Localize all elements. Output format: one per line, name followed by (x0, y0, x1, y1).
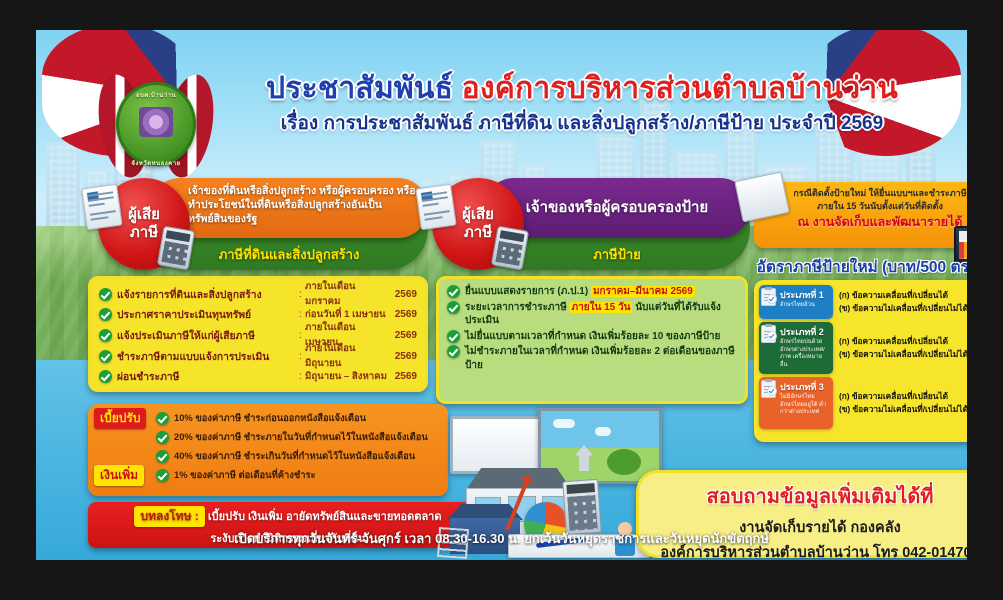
table-row: ประเภทที่ 3 ไม่มีอักษรไทย อักษรไทยอยู่ใต… (759, 377, 967, 429)
sign-type-1-label: ประเภทที่ 1 อักษรไทยล้วน (759, 285, 833, 319)
penalty-text: 20% ของค่าภาษี ชำระภายในวันที่กำหนดไว้ใน… (174, 430, 428, 445)
check-icon (99, 308, 112, 321)
sign-type-3-descriptions: (ก) ข้อความเคลื่อนที่/เปลี่ยนได้ (ข) ข้อ… (833, 377, 967, 429)
check-icon (99, 350, 112, 363)
list-item: ไม่ชำระภายในเวลาที่กำหนด เงินเพิ่มร้อยละ… (447, 345, 737, 372)
check-icon (447, 345, 460, 358)
schedule-task: แจ้งประเมินภาษีให้แก่ผู้เสียภาษี (117, 327, 299, 344)
list-item: 20% ของค่าภาษี ชำระภายในวันที่กำหนดไว้ใน… (94, 428, 442, 447)
table-row: ประเภทที่ 1 อักษรไทยล้วน (ก) ข้อความเคลื… (759, 285, 967, 319)
sign-payer-pill: เจ้าของหรือผู้ครอบครองป้าย (484, 178, 750, 238)
poster-title-block: ประชาสัมพันธ์ องค์การบริหารส่วนตำบลบ้านว… (212, 74, 952, 138)
rate-desc: (ก) ข้อความเคลื่อนที่/เปลี่ยนได้ (839, 289, 967, 302)
penalty-surcharge-tag: เงินเพิ่ม (94, 465, 144, 486)
schedule-year: 2569 (387, 330, 417, 341)
table-row: ผ่อนชำระภาษี : มิถุนายน – สิงหาคม 2569 (99, 366, 417, 387)
table-row: แจ้งรายการที่ดินและสิ่งปลูกสร้าง : ภายใน… (99, 284, 417, 305)
schedule-year: 2569 (387, 351, 417, 362)
penalty-text: 10% ของค่าภาษี ชำระก่อนออกหนังสือแจ้งเตื… (174, 411, 366, 426)
list-item: ระยะเวลาการชำระภาษี ภายใน 15 วัน นับแต่ว… (447, 301, 737, 328)
sign-type-sub: อักษรไทยล้วน (780, 302, 829, 310)
new-sign-notice-line3: ณ งานจัดเก็บและพัฒนารายได้ (762, 213, 967, 231)
sign-type-2-label: ประเภทที่ 2 อักษรไทยปนด้วย อักษรต่างประเ… (759, 322, 833, 374)
check-icon (99, 329, 112, 342)
rate-table-title: อัตราภาษีป้ายใหม่ (บาท/500 ตร.ซม.) (754, 254, 967, 279)
land-payer-badge: ผู้เสีย ภาษี (98, 178, 190, 270)
calculator-icon (157, 226, 195, 271)
schedule-task: ชำระภาษีตามแบบแจ้งการประเมิน (117, 348, 299, 365)
schedule-when: ภายในเดือน มกราคม (305, 279, 387, 309)
sign-type-sub: อักษรไทยปนด้วย อักษรต่างประเทศ/ภาพ เครื่… (780, 339, 829, 369)
rate-desc: (ก) ข้อความเคลื่อนที่/เปลี่ยนได้ (839, 390, 967, 403)
schedule-task: ผ่อนชำระภาษี (117, 368, 299, 385)
main-title-part1: ประชาสัมพันธ์ (266, 72, 453, 105)
schedule-year: 2569 (387, 309, 417, 320)
land-payer-badge-line2: ภาษี (130, 224, 158, 242)
sign-type-name: ประเภทที่ 1 (780, 288, 829, 302)
check-icon (156, 469, 169, 482)
sign-rule-text: ไม่ชำระภายในเวลาที่กำหนด เงินเพิ่มร้อยละ… (465, 345, 737, 372)
clipboard-check-icon (767, 331, 777, 341)
clipboard-check-icon (767, 386, 777, 396)
list-item: ยื่นแบบแสดงรายการ (ภ.ป.1) มกราคม–มีนาคม … (447, 285, 737, 299)
schedule-year: 2569 (387, 289, 417, 300)
table-row: ชำระภาษีตามแบบแจ้งการประเมิน : ภายในเดือ… (99, 346, 417, 367)
penalty-fine-tag: เบี้ยปรับ (94, 408, 146, 429)
penalty-panel: เบี้ยปรับ 10% ของค่าภาษี ชำระก่อนออกหนัง… (88, 404, 448, 496)
rate-desc: (ก) ข้อความเคลื่อนที่/เปลี่ยนได้ (839, 335, 967, 348)
list-item: เบี้ยปรับ 10% ของค่าภาษี ชำระก่อนออกหนัง… (94, 409, 442, 428)
clipboard-check-icon (767, 294, 777, 304)
schedule-when: มิถุนายน – สิงหาคม (305, 369, 387, 384)
sign-payer-badge-line1: ผู้เสีย (462, 206, 494, 224)
sign-type-2-descriptions: (ก) ข้อความเคลื่อนที่/เปลี่ยนได้ (ข) ข้อ… (833, 322, 967, 374)
check-icon (156, 450, 169, 463)
schedule-when: ภายในเดือน มิถุนายน (305, 341, 387, 371)
organization-emblem: อบต.บ้านว่าน จังหวัดหนองคาย (102, 72, 210, 184)
rate-desc: (ข) ข้อความไม่เคลื่อนที่/เปลี่ยนไม่ได้ (839, 302, 967, 315)
sign-rules-panel: ยื่นแบบแสดงรายการ (ภ.ป.1) มกราคม–มีนาคม … (436, 276, 748, 404)
footer-text: เปิดบริการทุกวันจันทร์-วันศุกร์ เวลา 08.… (234, 531, 769, 546)
punishment-text1: เบี้ยปรับ เงินเพิ่ม อายัดทรัพย์สินและขาย… (208, 511, 442, 523)
punishment-tag: บทลงโทษ : (134, 506, 204, 527)
check-icon (156, 412, 169, 425)
rate-desc: (ข) ข้อความไม่เคลื่อนที่/เปลี่ยนไม่ได้ (839, 403, 967, 416)
sign-type-name: ประเภทที่ 2 (780, 325, 829, 339)
sign-type-3-label: ประเภทที่ 3 ไม่มีอักษรไทย อักษรไทยอยู่ใต… (759, 377, 833, 429)
list-item: 40% ของค่าภาษี ชำระเกินวันที่กำหนดไว้ในห… (94, 447, 442, 466)
new-sign-notice-line1: กรณีติดตั้งป้ายใหม่ ให้ยื่นแบบฯและชำระภา… (762, 187, 967, 200)
check-icon (447, 330, 460, 343)
sign-rule-pre: ระยะเวลาการชำระภาษี (465, 302, 570, 313)
sign-payer-badge: ผู้เสีย ภาษี (432, 178, 524, 270)
sign-rate-table: ประเภทที่ 1 อักษรไทยล้วน (ก) ข้อความเคลื… (754, 280, 967, 442)
list-item: ไม่ยื่นแบบตามเวลาที่กำหนด เงินเพิ่มร้อยล… (447, 330, 737, 344)
penalty-text: 40% ของค่าภาษี ชำระเกินวันที่กำหนดไว้ในห… (174, 449, 415, 464)
schedule-year: 2569 (387, 371, 417, 382)
new-sign-notice-box: กรณีติดตั้งป้ายใหม่ ให้ยื่นแบบฯและชำระภา… (754, 182, 967, 248)
check-icon (156, 431, 169, 444)
land-payer-pill: เจ้าของที่ดินหรือสิ่งปลูกสร้าง หรือผู้คร… (150, 178, 428, 238)
sign-rule-text: ไม่ยื่นแบบตามเวลาที่กำหนด เงินเพิ่มร้อยล… (465, 330, 720, 344)
schedule-task: ประกาศราคาประเมินทุนทรัพย์ (117, 306, 299, 323)
punishment-line1: บทลงโทษ : เบี้ยปรับ เงินเพิ่ม อายัดทรัพย… (96, 506, 480, 527)
schedule-task: แจ้งรายการที่ดินและสิ่งปลูกสร้าง (117, 286, 299, 303)
table-row: ประเภทที่ 2 อักษรไทยปนด้วย อักษรต่างประเ… (759, 322, 967, 374)
poster-root: อบต.บ้านว่าน จังหวัดหนองคาย ประชาสัมพันธ… (0, 0, 1003, 600)
emblem-arc-top-text: อบต.บ้านว่าน (136, 90, 176, 100)
document-icon (415, 184, 456, 231)
list-item: เงินเพิ่ม 1% ของค่าภาษี ต่อเดือนที่ค้างช… (94, 466, 442, 485)
blank-billboard-icon (450, 416, 542, 474)
rate-desc: (ข) ข้อความไม่เคลื่อนที่/เปลี่ยนไม่ได้ (839, 348, 967, 361)
contact-heading: สอบถามข้อมูลเพิ่มเติมได้ที่ (639, 480, 967, 512)
penalty-text: 1% ของค่าภาษี ต่อเดือนที่ค้างชำระ (174, 468, 316, 483)
check-icon (447, 285, 460, 298)
sign-rule-highlight: ภายใน 15 วัน (570, 302, 633, 313)
footer-hours: เปิดบริการทุกวันจันทร์-วันศุกร์ เวลา 08.… (36, 528, 967, 552)
sign-rule-text: ยื่นแบบแสดงรายการ (ภ.ป.1) มกราคม–มีนาคม … (465, 285, 695, 299)
check-icon (99, 370, 112, 383)
calculator-icon (491, 226, 529, 271)
new-sign-notice-line2: ภายใน 15 วันนับตั้งแต่วันที่ติดตั้ง (762, 200, 967, 213)
sign-type-1-descriptions: (ก) ข้อความเคลื่อนที่/เปลี่ยนได้ (ข) ข้อ… (833, 285, 967, 319)
document-icon (81, 184, 122, 231)
sign-payer-badge-line2: ภาษี (464, 224, 492, 242)
emblem-arc-bottom-text: จังหวัดหนองคาย (131, 158, 180, 168)
land-payer-badge-line1: ผู้เสีย (128, 206, 160, 224)
sign-rule-highlight: มกราคม–มีนาคม 2569 (591, 286, 695, 297)
land-payer-description: เจ้าของที่ดินหรือสิ่งปลูกสร้าง หรือผู้คร… (188, 184, 420, 227)
main-title-part2: องค์การบริหารส่วนตำบลบ้านว่าน (462, 72, 898, 105)
subtitle: เรื่อง การประชาสัมพันธ์ ภาษีที่ดิน และสิ… (212, 108, 952, 138)
tree-icon (607, 449, 641, 475)
sign-rule-pre: ยื่นแบบแสดงรายการ (ภ.ป.1) (465, 286, 591, 297)
sign-type-name: ประเภทที่ 3 (780, 380, 829, 394)
sign-type-sub: ไม่มีอักษรไทย อักษรไทยอยู่ใต้ ต่ำกว่าต่า… (780, 394, 829, 417)
main-title: ประชาสัมพันธ์ องค์การบริหารส่วนตำบลบ้านว… (212, 74, 952, 104)
land-schedule-panel: แจ้งรายการที่ดินและสิ่งปลูกสร้าง : ภายใน… (88, 276, 428, 392)
sign-rule-text: ระยะเวลาการชำระภาษี ภายใน 15 วัน นับแต่ว… (465, 301, 737, 328)
calculator-icon (562, 479, 602, 535)
sign-payer-description: เจ้าของหรือผู้ครอบครองป้าย (526, 198, 708, 218)
check-icon (99, 288, 112, 301)
poster-board: อบต.บ้านว่าน จังหวัดหนองคาย ประชาสัมพันธ… (36, 30, 967, 560)
check-icon (447, 301, 460, 314)
